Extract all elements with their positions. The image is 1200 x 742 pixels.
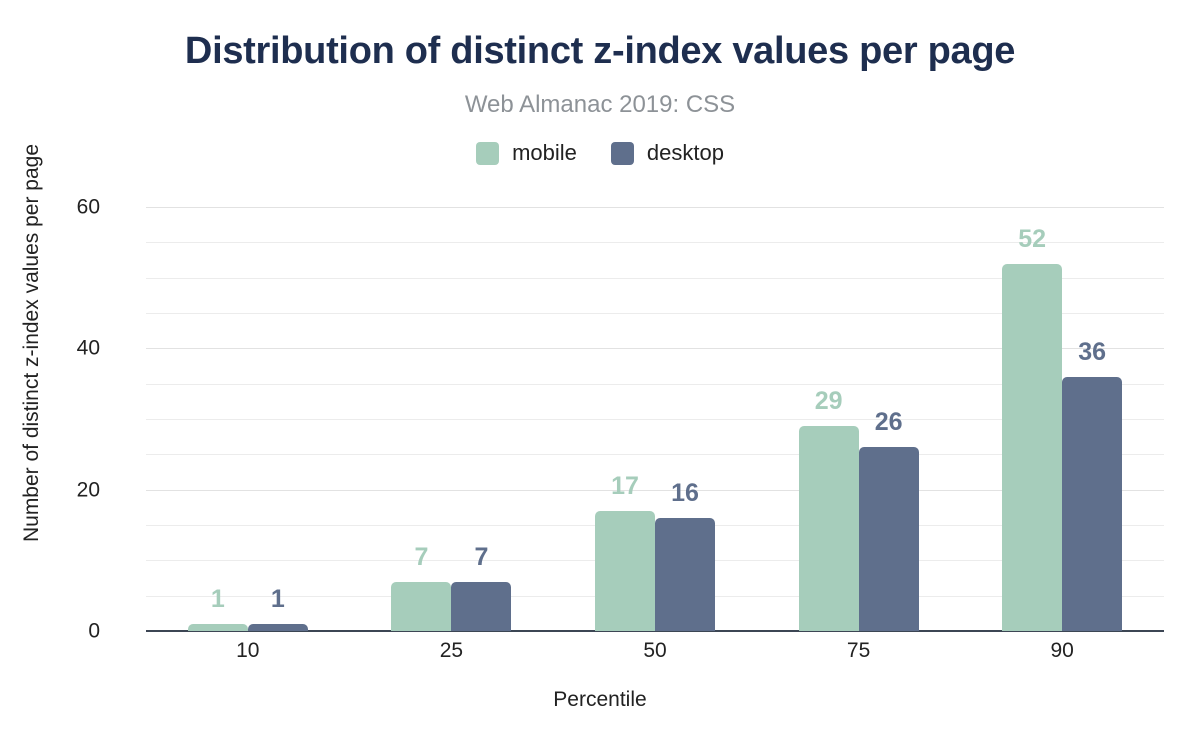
chart-container: Distribution of distinct z-index values … [0, 0, 1200, 742]
bar-mobile-90[interactable] [1002, 264, 1062, 631]
y-axis-tick-label: 0 [40, 621, 100, 642]
bar-value-label-mobile-10: 1 [188, 586, 248, 612]
chart-legend: mobiledesktop [0, 141, 1200, 165]
x-axis-tick-label-90: 90 [1051, 640, 1074, 662]
y-axis-tick-label: 60 [40, 197, 100, 218]
bar-value-label-mobile-50: 17 [595, 473, 655, 499]
bar-desktop-50[interactable] [655, 518, 715, 631]
chart-subtitle: Web Almanac 2019: CSS [0, 90, 1200, 120]
x-axis-tick-label-50: 50 [643, 640, 666, 662]
bar-mobile-75[interactable] [799, 426, 859, 631]
x-axis-tick-label-75: 75 [847, 640, 870, 662]
bar-desktop-90[interactable] [1062, 377, 1122, 631]
legend-item-mobile[interactable]: mobile [476, 141, 577, 165]
legend-swatch-mobile [476, 142, 499, 165]
x-axis-title: Percentile [0, 688, 1200, 712]
y-axis-tick-label: 40 [40, 338, 100, 359]
legend-label-desktop: desktop [647, 141, 724, 165]
bar-value-label-desktop-50: 16 [655, 480, 715, 506]
legend-swatch-desktop [611, 142, 634, 165]
x-axis-tick-label-25: 25 [440, 640, 463, 662]
x-axis-tick-label-10: 10 [236, 640, 259, 662]
plot-area: 02040601177171629265236 [146, 207, 1164, 631]
gridline-major [146, 207, 1164, 208]
bar-desktop-10[interactable] [248, 624, 308, 631]
legend-item-desktop[interactable]: desktop [611, 141, 724, 165]
bar-value-label-desktop-10: 1 [248, 586, 308, 612]
legend-label-mobile: mobile [512, 141, 577, 165]
bar-value-label-mobile-75: 29 [799, 388, 859, 414]
bar-value-label-desktop-90: 36 [1062, 339, 1122, 365]
bar-value-label-mobile-90: 52 [1002, 226, 1062, 252]
bar-mobile-25[interactable] [391, 582, 451, 631]
bar-value-label-desktop-75: 26 [859, 409, 919, 435]
bar-mobile-50[interactable] [595, 511, 655, 631]
bar-desktop-25[interactable] [451, 582, 511, 631]
bar-value-label-desktop-25: 7 [451, 544, 511, 570]
bar-desktop-75[interactable] [859, 447, 919, 631]
bar-value-label-mobile-25: 7 [391, 544, 451, 570]
y-axis-tick-label: 20 [40, 479, 100, 500]
chart-title: Distribution of distinct z-index values … [0, 28, 1200, 74]
bar-mobile-10[interactable] [188, 624, 248, 631]
y-axis-title: Number of distinct z-index values per pa… [20, 33, 44, 653]
